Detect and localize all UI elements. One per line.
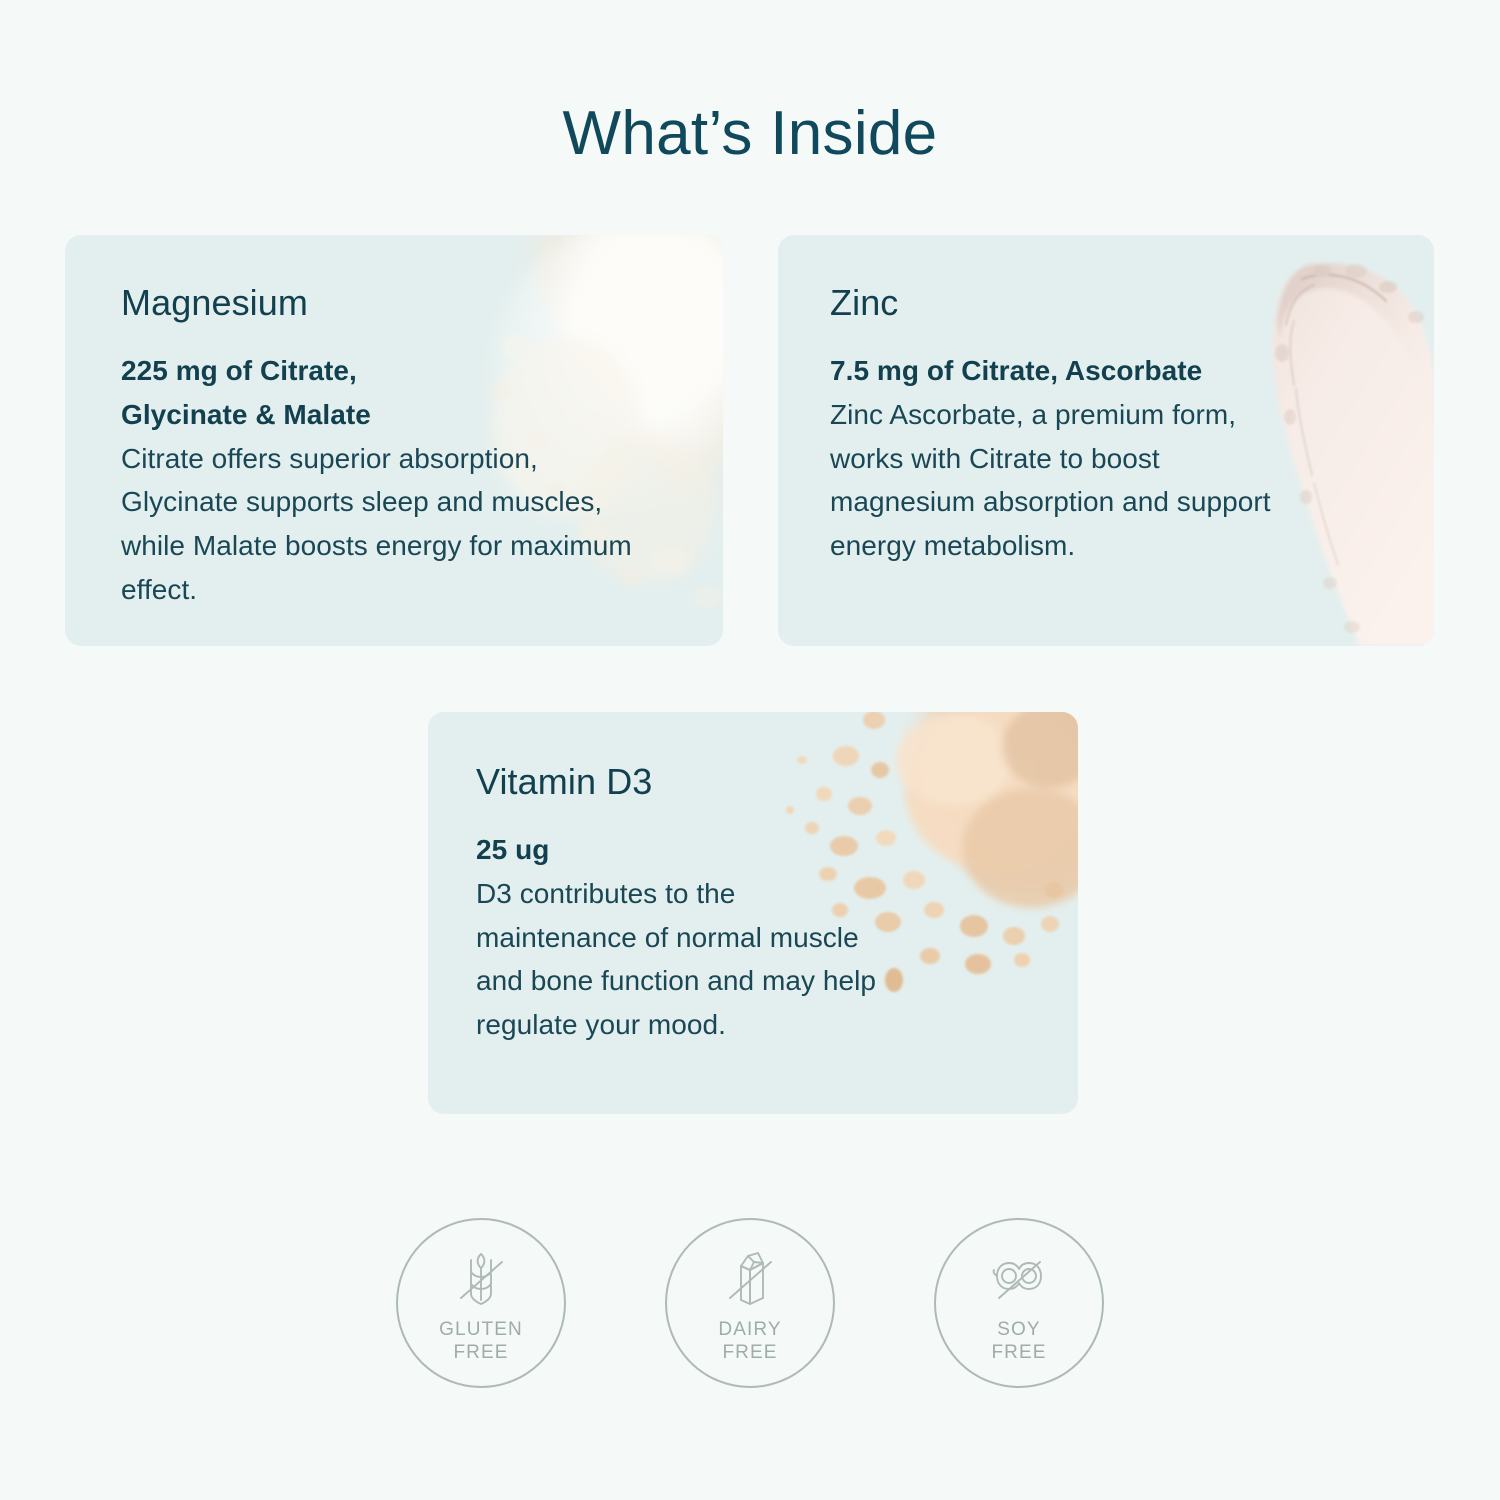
- ingredient-card-zinc: Zinc 7.5 mg of Citrate, Ascorbate Zinc A…: [778, 235, 1434, 646]
- badge-label: SOY FREE: [991, 1318, 1046, 1364]
- soybean-pod-slash-icon: [983, 1246, 1055, 1310]
- badge-label: GLUTEN FREE: [439, 1318, 523, 1364]
- badge-dairy-free: DAIRY FREE: [665, 1218, 835, 1388]
- page-title: What’s Inside: [0, 100, 1500, 168]
- card-body: Vitamin D3 25 ug D3 contributes to the m…: [428, 712, 1078, 1047]
- card-description: D3 contributes to the maintenance of nor…: [476, 872, 896, 1048]
- card-heading: Magnesium: [121, 283, 723, 323]
- card-body: Magnesium 225 mg of Citrate, Glycinate &…: [65, 235, 723, 612]
- card-body: Zinc 7.5 mg of Citrate, Ascorbate Zinc A…: [778, 235, 1434, 568]
- milk-carton-slash-icon: [714, 1246, 786, 1310]
- certification-badges: GLUTEN FREE DAIRY FREE SOY FREE: [0, 1218, 1500, 1388]
- whats-inside-page: What’s Inside: [0, 0, 1500, 1500]
- ingredient-card-magnesium: Magnesium 225 mg of Citrate, Glycinate &…: [65, 235, 723, 646]
- wheat-slash-icon: [445, 1246, 517, 1310]
- card-description: Zinc Ascorbate, a premium form, works wi…: [830, 393, 1280, 569]
- badge-label: DAIRY FREE: [718, 1318, 781, 1364]
- ingredient-card-vitamin-d3: Vitamin D3 25 ug D3 contributes to the m…: [428, 712, 1078, 1114]
- card-heading: Vitamin D3: [476, 762, 1078, 802]
- card-heading: Zinc: [830, 283, 1434, 323]
- card-dose: 7.5 mg of Citrate, Ascorbate: [830, 349, 1280, 393]
- badge-gluten-free: GLUTEN FREE: [396, 1218, 566, 1388]
- card-description: Citrate offers superior absorption, Glyc…: [121, 437, 651, 613]
- card-dose: 25 ug: [476, 828, 896, 872]
- card-dose: 225 mg of Citrate, Glycinate & Malate: [121, 349, 651, 437]
- badge-soy-free: SOY FREE: [934, 1218, 1104, 1388]
